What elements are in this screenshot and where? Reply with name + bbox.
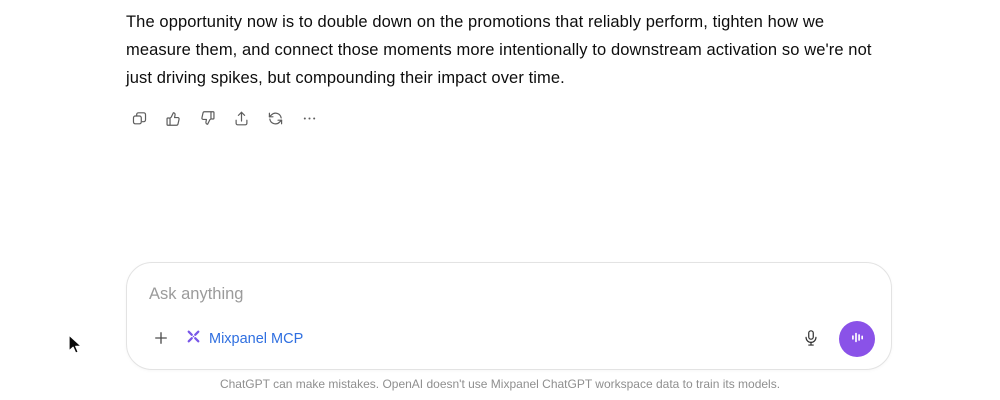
microphone-icon xyxy=(802,329,820,350)
plus-icon xyxy=(152,329,170,350)
audio-waveform-icon xyxy=(848,328,867,350)
share-upload-icon xyxy=(233,110,250,127)
prompt-input[interactable] xyxy=(149,283,869,305)
copy-button[interactable] xyxy=(126,105,152,131)
composer-input-row xyxy=(149,283,869,305)
thumbs-up-button[interactable] xyxy=(160,105,186,131)
add-attachment-button[interactable] xyxy=(147,325,175,353)
share-button[interactable] xyxy=(228,105,254,131)
thumbs-down-button[interactable] xyxy=(194,105,220,131)
mixpanel-logo-icon xyxy=(185,328,202,350)
thumbs-down-icon xyxy=(199,110,216,127)
mcp-connector-label: Mixpanel MCP xyxy=(209,330,303,348)
mcp-connector-chip[interactable]: Mixpanel MCP xyxy=(183,325,309,353)
more-options-button[interactable] xyxy=(296,105,322,131)
composer[interactable]: Mixpanel MCP xyxy=(126,262,892,370)
copy-icon xyxy=(131,110,148,127)
message-action-toolbar xyxy=(126,105,322,131)
ellipsis-icon xyxy=(301,110,318,127)
composer-right-tools xyxy=(797,321,875,357)
regenerate-button[interactable] xyxy=(262,105,288,131)
assistant-message: The opportunity now is to double down on… xyxy=(126,8,886,92)
refresh-icon xyxy=(267,110,284,127)
mouse-cursor xyxy=(68,334,84,356)
composer-footnote: ChatGPT can make mistakes. OpenAI doesn'… xyxy=(0,376,1000,392)
composer-toolbar: Mixpanel MCP xyxy=(147,321,875,357)
assistant-message-text: The opportunity now is to double down on… xyxy=(126,8,886,92)
voice-mode-button[interactable] xyxy=(839,321,875,357)
composer-left-tools: Mixpanel MCP xyxy=(147,325,309,353)
dictate-button[interactable] xyxy=(797,325,825,353)
thumbs-up-icon xyxy=(165,110,182,127)
